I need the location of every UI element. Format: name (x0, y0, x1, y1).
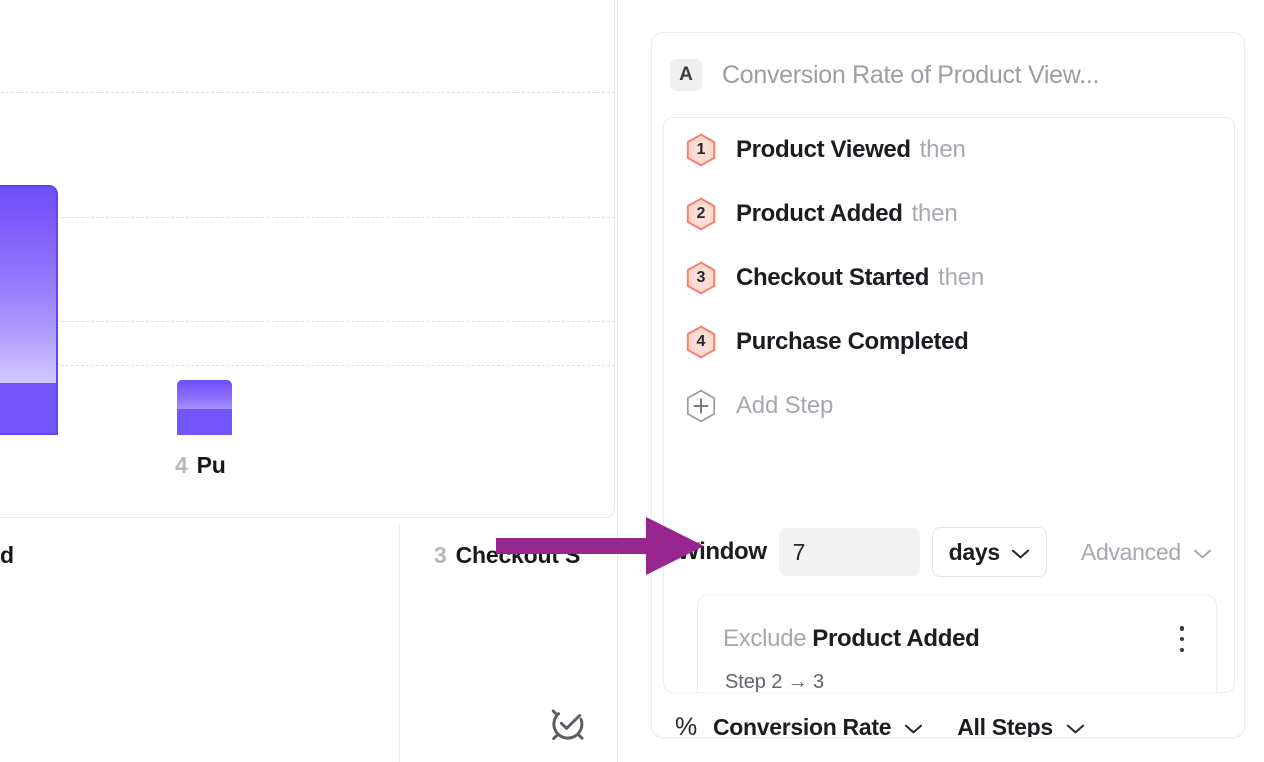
chevron-down-icon (1066, 714, 1085, 739)
dot (1180, 626, 1185, 631)
add-step-label: Add Step (736, 392, 833, 420)
add-step-hexagon-plus-icon (685, 389, 717, 423)
step-event-name: Purchase Completed (736, 328, 968, 356)
step-number: 3 (697, 270, 706, 286)
x-tick-label: Pu (197, 452, 226, 478)
step-number: 2 (697, 206, 706, 222)
screen-root: 18.23% 1,065 Checkout Started 4Pu d (0, 0, 1264, 762)
metric-card-number: 3 (434, 542, 447, 568)
step-row-2[interactable]: 2 Product Added then (685, 194, 957, 234)
step-number-hexagon-icon: 4 (685, 325, 717, 359)
x-tick-number: 4 (175, 452, 188, 478)
gridline (0, 92, 615, 93)
chevron-down-icon (1193, 539, 1212, 566)
metric-card-title: 3Checkout S (434, 542, 580, 569)
step-then-label: then (938, 264, 984, 292)
metric-card-2[interactable]: d (0, 524, 400, 762)
exclusion-title: ExcludeProduct Added (723, 625, 980, 653)
metric-card-label: Checkout S (456, 542, 581, 568)
window-unit-select[interactable]: days (932, 527, 1047, 577)
chart-plot-area: 18.23% 1,065 (0, 0, 615, 435)
step-event-name: Product Viewed (736, 136, 911, 164)
panel-footer-controls: % Conversion Rate All Steps (652, 697, 1245, 738)
series-badge[interactable]: A (670, 59, 702, 91)
query-builder-panel: A Conversion Rate of Product View... 1 P… (651, 32, 1245, 738)
chart-x-axis: Checkout Started 4Pu (0, 452, 615, 496)
exclusion-overflow-menu-icon[interactable] (1170, 622, 1194, 656)
add-step-button[interactable]: Add Step (685, 386, 833, 426)
panel-divider (617, 0, 618, 762)
advanced-options-button[interactable]: Advanced (1081, 539, 1212, 566)
chart-region: 18.23% 1,065 Checkout Started 4Pu d (0, 0, 617, 762)
step-row-3[interactable]: 3 Checkout Started then (685, 258, 984, 298)
step-row-1[interactable]: 1 Product Viewed then (685, 130, 966, 170)
window-unit-label: days (949, 539, 1000, 566)
dot (1180, 648, 1185, 653)
panel-header: A Conversion Rate of Product View... (652, 33, 1245, 117)
advanced-label: Advanced (1081, 539, 1181, 566)
metric-card-label: d (0, 542, 14, 568)
step-then-label: then (912, 200, 958, 228)
step-number-hexagon-icon: 1 (685, 133, 717, 167)
series-title[interactable]: Conversion Rate of Product View... (722, 61, 1099, 90)
step-event-name: Checkout Started (736, 264, 929, 292)
conversion-window-row: Window days Advanced (677, 526, 1222, 578)
bar-purchase-completed[interactable] (177, 380, 232, 435)
steps-scope-label: All Steps (957, 714, 1053, 739)
exclusion-event-name: Product Added (812, 625, 979, 652)
metric-card-title: d (0, 542, 14, 569)
exclusion-step-range: Step 2 → 3 (725, 671, 824, 693)
steps-container: 1 Product Viewed then 2 Product Added th… (663, 117, 1235, 693)
step-number: 1 (697, 142, 706, 158)
gridline (0, 217, 615, 218)
gridline (0, 321, 615, 322)
exclusion-prefix: Exclude (723, 625, 806, 652)
gridline (0, 365, 615, 366)
exclusion-step-card[interactable]: ExcludeProduct Added Step 2 → 3 (697, 595, 1217, 693)
step-number: 4 (697, 334, 706, 350)
step-number-hexagon-icon: 2 (685, 197, 717, 231)
chevron-down-icon (904, 714, 923, 739)
step-number-hexagon-icon: 3 (685, 261, 717, 295)
bar-solid-base (177, 409, 232, 435)
chevron-down-icon (1011, 539, 1030, 566)
dot (1180, 637, 1185, 642)
conversion-check-icon (547, 703, 589, 750)
bar-solid-base (0, 383, 56, 435)
metric-card-3[interactable]: 3Checkout S (400, 524, 617, 762)
x-tick-purchase-completed: 4Pu (175, 452, 226, 479)
funnel-chart-card: 18.23% 1,065 Checkout Started 4Pu (0, 0, 615, 518)
metric-type-select[interactable]: % Conversion Rate (675, 713, 923, 739)
bar-checkout-started[interactable] (0, 185, 56, 435)
metric-cards-row: d (0, 524, 617, 762)
window-value-input[interactable] (779, 528, 920, 576)
percent-icon: % (675, 713, 697, 739)
window-label: Window (677, 538, 767, 566)
step-row-4[interactable]: 4 Purchase Completed (685, 322, 977, 362)
step-then-label: then (920, 136, 966, 164)
step-event-name: Product Added (736, 200, 903, 228)
metric-label: Conversion Rate (713, 714, 891, 739)
steps-scope-select[interactable]: All Steps (957, 714, 1085, 739)
